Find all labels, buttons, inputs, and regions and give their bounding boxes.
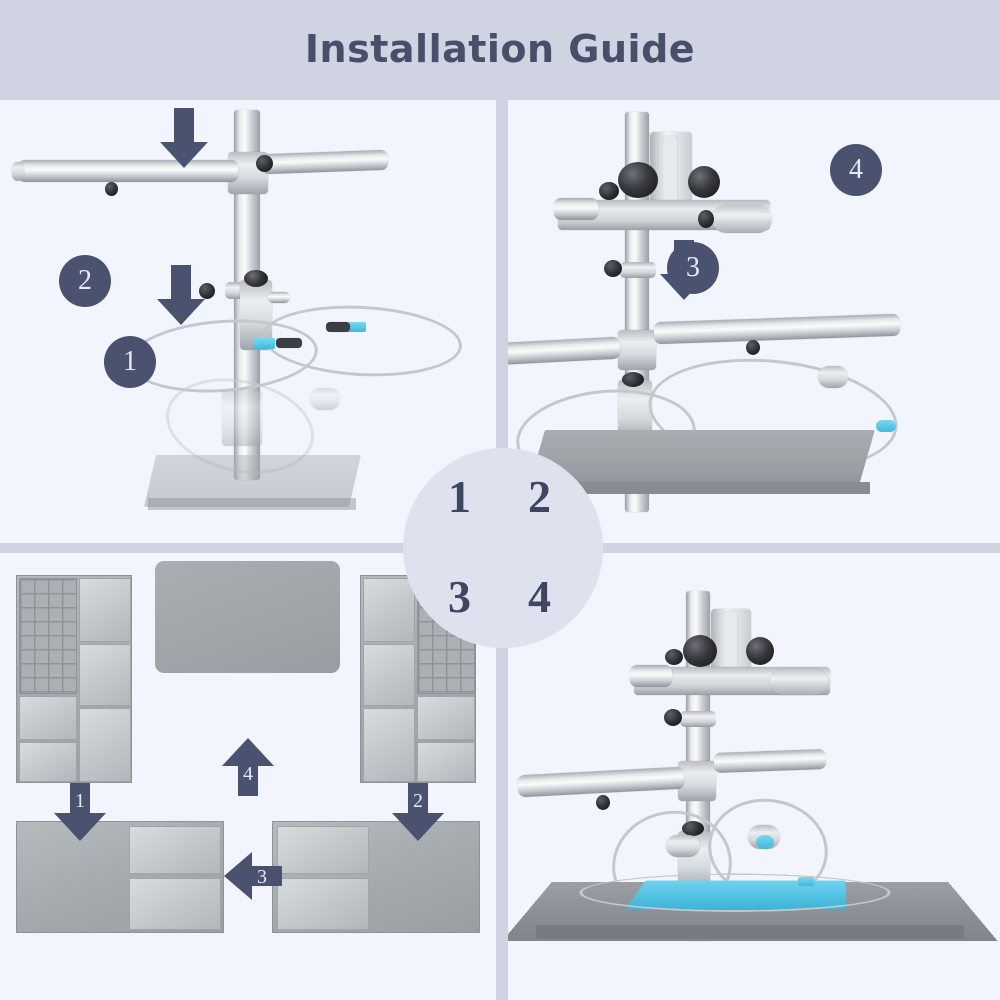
- arrow-1-number: 1: [75, 790, 85, 812]
- gooseneck-mount-knob: [622, 372, 644, 387]
- collar-lock-screw: [604, 260, 622, 277]
- tray-upper-left: [16, 575, 132, 783]
- cross-bar-right: [714, 749, 827, 773]
- pocket-left-e: [79, 708, 131, 782]
- page-header: Installation Guide: [0, 0, 1000, 97]
- lamp-head: [818, 366, 848, 388]
- arrow-down-cross-bar: [158, 108, 210, 170]
- arrow-2-number: 2: [413, 790, 423, 812]
- gooseneck-mount-pin: [268, 292, 290, 303]
- quadrant-number-2: 2: [528, 470, 551, 523]
- badge-step-1: 1: [104, 336, 156, 388]
- carriage-arm-stub-left: [554, 198, 598, 220]
- cross-bar-hub: [618, 330, 656, 370]
- arrow-left-step-3: 3: [222, 848, 284, 904]
- pocket-lower-right-b: [277, 878, 369, 930]
- tray-lower-right: [272, 821, 480, 933]
- pocket-lower-left-b: [129, 878, 221, 930]
- ring-holder-screw: [698, 210, 714, 228]
- pocket-right-d: [363, 644, 415, 706]
- badge-step-4-label: 4: [849, 154, 863, 186]
- focus-knob-left: [683, 635, 717, 667]
- base-plate-edge: [536, 925, 964, 939]
- quadrant-number-4: 4: [528, 570, 551, 623]
- pocket-right-b: [417, 742, 475, 782]
- lamp-lens-cyan: [756, 835, 774, 849]
- badge-step-3-label: 3: [686, 252, 700, 284]
- pocket-lower-left-a: [129, 826, 221, 874]
- panel-step-2: 4 3: [508, 100, 1000, 543]
- panel-step-1: 2 1: [0, 100, 496, 543]
- pocket-right-c: [363, 578, 415, 642]
- pocket-left-a: [19, 696, 77, 740]
- arrow-up-step-4: 4: [218, 736, 278, 798]
- camera-ring-holder: [712, 205, 772, 233]
- arrow-down-step-2: 2: [388, 783, 448, 843]
- cross-bar-lock-knob: [256, 155, 273, 172]
- badge-step-1-label: 1: [123, 346, 137, 378]
- badge-step-2-label: 2: [78, 265, 92, 297]
- badge-step-3: 3: [667, 242, 719, 294]
- gooseneck-plug-left: [276, 338, 302, 348]
- base-plate-front: [148, 498, 356, 510]
- carriage-lock-screw: [599, 182, 619, 200]
- arrow-3-number: 3: [257, 866, 267, 888]
- lamp-head: [310, 388, 340, 410]
- pocket-lower-right-a: [277, 826, 369, 874]
- carriage-arm-stub-left: [630, 665, 672, 687]
- pocket-left-c: [79, 578, 131, 642]
- page-title: Installation Guide: [305, 27, 695, 71]
- panel-step-4: [508, 553, 1000, 1000]
- pocket-left-d: [79, 644, 131, 706]
- cross-bar-left: [508, 337, 620, 366]
- gooseneck-connector-cyan-2: [876, 420, 896, 432]
- arrow-down-step-1: 1: [50, 783, 110, 843]
- arrow-down-gooseneck: [155, 265, 207, 327]
- panel-step-3: 1 2 3 4: [0, 553, 496, 1000]
- tray-lower-left: [16, 821, 224, 933]
- gooseneck-mount-knob: [244, 270, 268, 287]
- base-plate-front: [530, 482, 870, 494]
- cross-bar-thumbscrew: [105, 182, 118, 196]
- focus-knob-right: [688, 166, 720, 198]
- foam-grid-left: [19, 578, 77, 694]
- quadrant-number-1: 1: [448, 470, 471, 523]
- gooseneck-connector-cyan-left: [253, 338, 275, 349]
- collar-lock-screw: [664, 709, 682, 726]
- focus-knob-right: [746, 637, 774, 665]
- pocket-right-e: [363, 708, 415, 782]
- laptop-slab: [155, 561, 340, 673]
- installation-guide-page: Installation Guide: [0, 0, 1000, 1000]
- cross-bar-right: [654, 314, 901, 345]
- post-collar-ring: [620, 262, 656, 278]
- cross-bar-right: [262, 150, 389, 174]
- badge-step-2: 2: [59, 255, 111, 307]
- carriage-lock-screw: [665, 649, 683, 665]
- badge-step-4: 4: [830, 144, 882, 196]
- pocket-right-a: [417, 696, 475, 740]
- cross-bar-endcap-left: [12, 162, 24, 181]
- camera-ring-holder: [770, 669, 828, 695]
- quadrant-number-3: 3: [448, 570, 471, 623]
- cross-bar-thumbscrew: [746, 340, 760, 355]
- post-collar-ring: [680, 711, 716, 727]
- cross-bar-left: [518, 767, 685, 798]
- cross-bar-thumbscrew: [596, 795, 610, 810]
- arrow-4-number: 4: [243, 763, 253, 785]
- gooseneck-plug-right: [326, 322, 350, 332]
- pocket-left-b: [19, 742, 77, 782]
- focus-knob-left: [618, 162, 658, 198]
- lamp-head-left: [666, 835, 700, 857]
